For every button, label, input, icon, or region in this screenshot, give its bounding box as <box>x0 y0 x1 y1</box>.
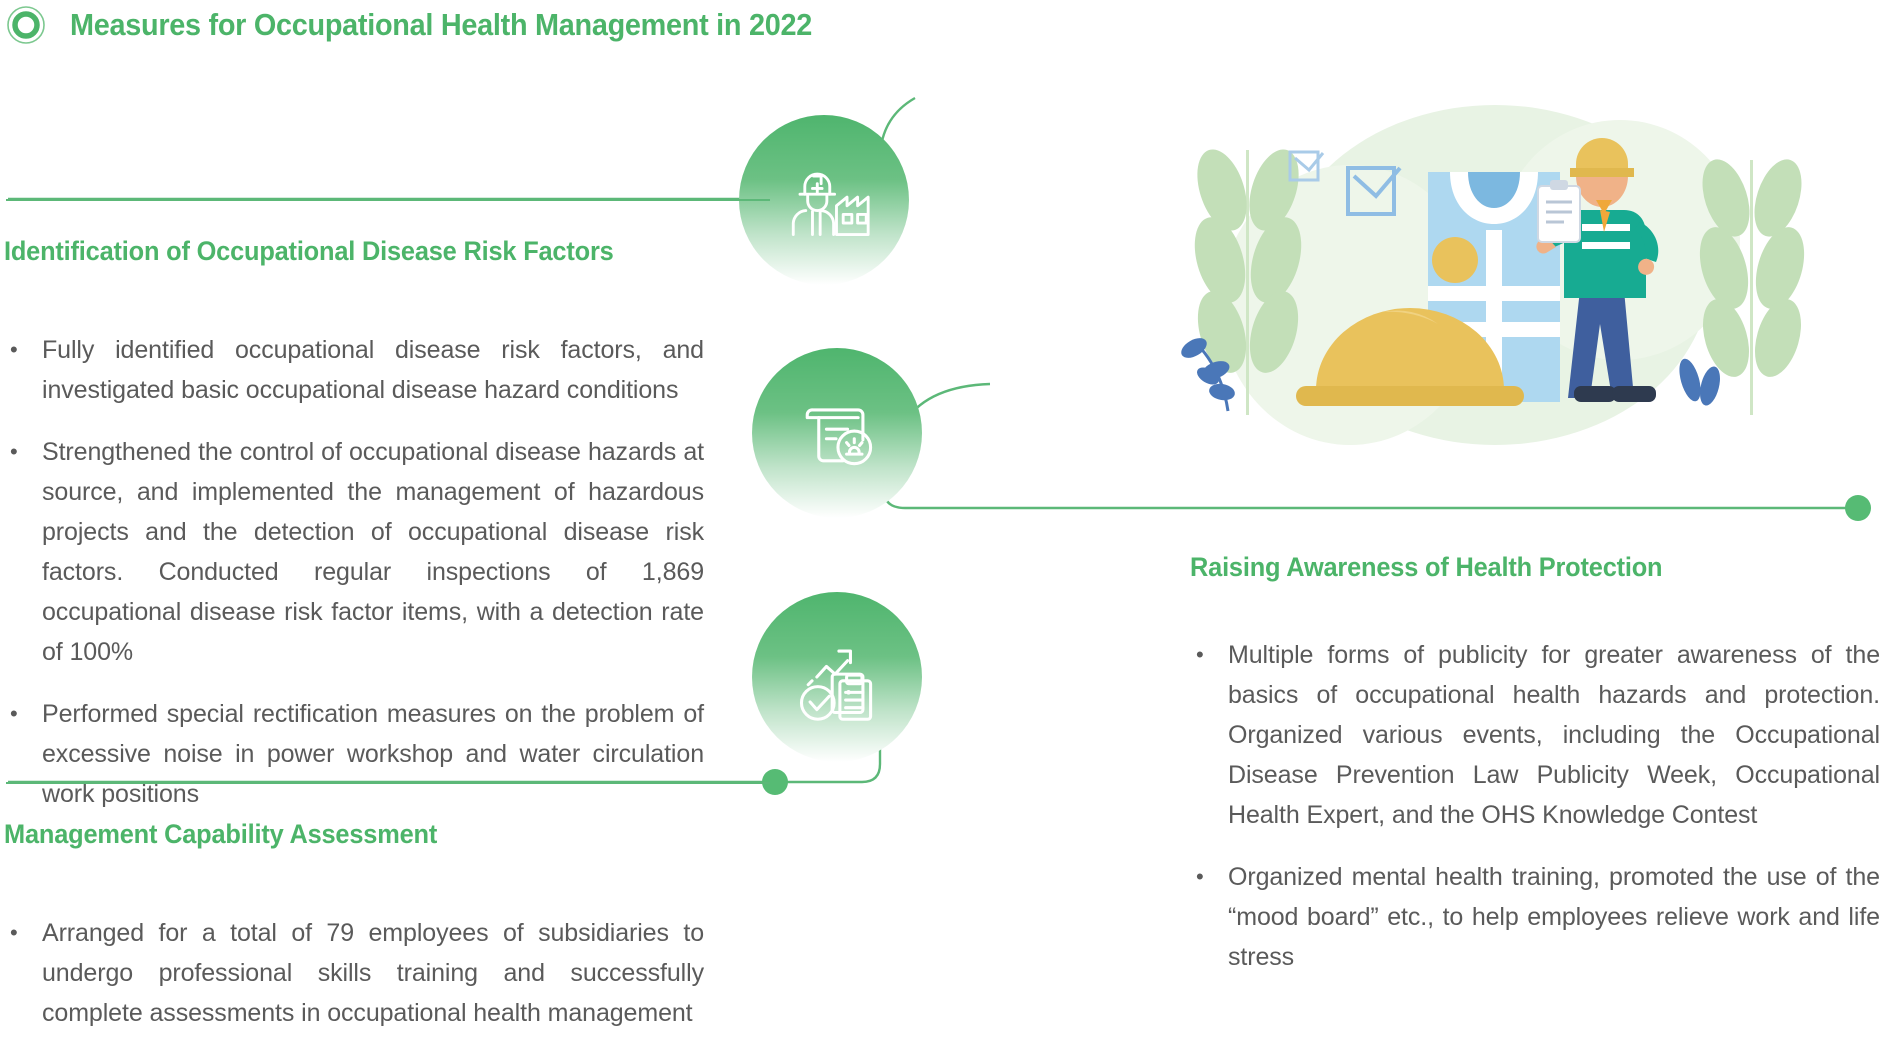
list-item: • Organized mental health training, prom… <box>1190 857 1880 977</box>
bullet-text: Fully identified occupational disease ri… <box>42 330 704 410</box>
section-heading-awareness: Raising Awareness of Health Protection <box>1190 552 1662 583</box>
section-heading-identification: Identification of Occupational Disease R… <box>4 236 614 267</box>
bullet-list-identification: • Fully identified occupational disease … <box>4 330 704 814</box>
occupational-safety-illustration <box>1150 90 1870 510</box>
bullet-marker: • <box>4 432 42 672</box>
bullet-marker: • <box>1190 635 1228 835</box>
bullet-marker: • <box>4 330 42 410</box>
bullet-text: Strengthened the control of occupational… <box>42 432 704 672</box>
list-item: • Strengthened the control of occupation… <box>4 432 704 672</box>
list-item: • Performed special rectification measur… <box>4 694 704 814</box>
list-item: • Arranged for a total of 79 employees o… <box>4 913 704 1033</box>
bullet-list-awareness: • Multiple forms of publicity for greate… <box>1190 635 1880 977</box>
infographic-page: Measures for Occupational Health Managem… <box>0 0 1885 1051</box>
section-heading-management: Management Capability Assessment <box>4 819 437 850</box>
list-item: • Fully identified occupational disease … <box>4 330 704 410</box>
bullet-text: Arranged for a total of 79 employees of … <box>42 913 704 1033</box>
bullet-marker: • <box>1190 857 1228 977</box>
hazard-report-icon <box>752 348 922 518</box>
divider-bottom <box>6 782 770 784</box>
bullet-list-management: • Arranged for a total of 79 employees o… <box>4 913 704 1033</box>
divider-top <box>6 199 770 201</box>
bullet-text: Performed special rectification measures… <box>42 694 704 814</box>
growth-checklist-icon <box>752 592 922 762</box>
bullet-marker: • <box>4 694 42 814</box>
list-item: • Multiple forms of publicity for greate… <box>1190 635 1880 835</box>
bullet-text: Organized mental health training, promot… <box>1228 857 1880 977</box>
bullet-marker: • <box>4 913 42 1033</box>
bullet-text: Multiple forms of publicity for greater … <box>1228 635 1880 835</box>
